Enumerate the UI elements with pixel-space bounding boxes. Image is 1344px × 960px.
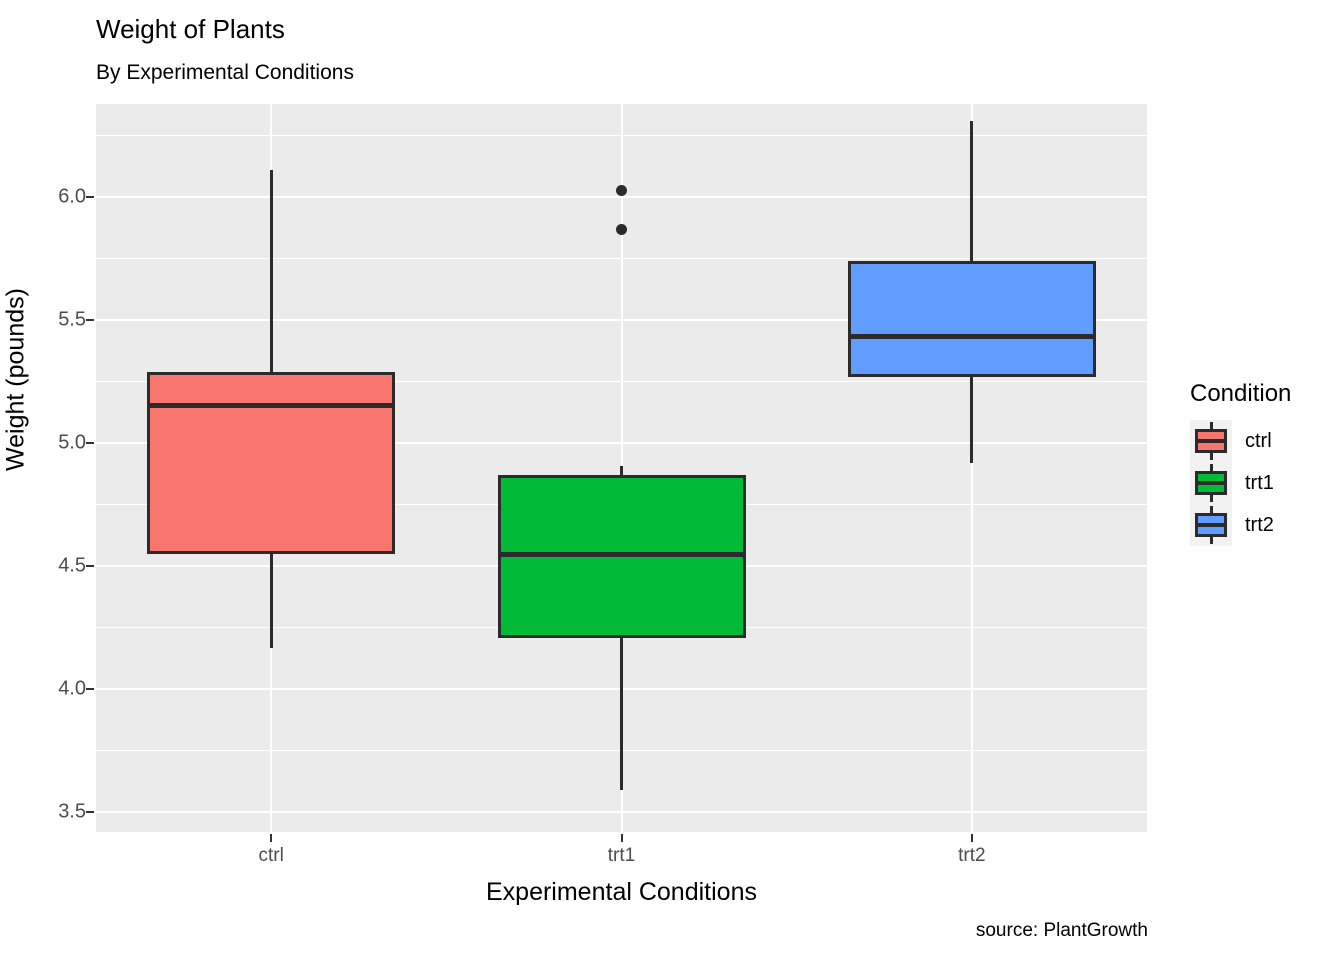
y-tick-label: 5.5 bbox=[58, 309, 86, 332]
x-tick-label-trt1: trt1 bbox=[608, 845, 635, 867]
legend-key-median bbox=[1195, 439, 1227, 443]
x-tick-label-ctrl: ctrl bbox=[258, 845, 283, 867]
legend-item-trt1[interactable]: trt1 bbox=[1190, 462, 1291, 504]
whisker-upper bbox=[620, 466, 623, 476]
y-tick-mark bbox=[86, 688, 94, 690]
outlier-point bbox=[616, 224, 627, 235]
x-axis-title: Experimental Conditions bbox=[96, 878, 1147, 907]
boxplot-ctrl[interactable] bbox=[147, 104, 395, 832]
y-tick-label: 4.0 bbox=[58, 678, 86, 701]
legend-item-trt2[interactable]: trt2 bbox=[1190, 504, 1291, 546]
plot-caption: source: PlantGrowth bbox=[976, 920, 1148, 942]
y-tick-mark bbox=[86, 319, 94, 321]
y-tick-mark bbox=[86, 565, 94, 567]
y-tick-mark bbox=[86, 442, 94, 444]
whisker-upper bbox=[270, 170, 273, 372]
median-line bbox=[848, 334, 1096, 339]
legend: Condition ctrltrt1trt2 bbox=[1190, 380, 1291, 546]
y-tick-mark bbox=[86, 811, 94, 813]
x-tick-mark bbox=[971, 834, 973, 842]
legend-key-median bbox=[1195, 481, 1227, 485]
boxplot-trt2[interactable] bbox=[848, 104, 1096, 832]
legend-label: ctrl bbox=[1245, 430, 1272, 453]
median-line bbox=[498, 552, 746, 557]
whisker-lower bbox=[620, 638, 623, 790]
x-tick-mark bbox=[270, 834, 272, 842]
legend-label: trt2 bbox=[1245, 514, 1274, 537]
y-tick-label: 4.5 bbox=[58, 555, 86, 578]
boxplot-trt1[interactable] bbox=[498, 104, 746, 832]
legend-key-median bbox=[1195, 523, 1227, 527]
box-iqr bbox=[147, 372, 395, 554]
x-tick-mark bbox=[621, 834, 623, 842]
outlier-point bbox=[616, 185, 627, 196]
legend-key-glyph bbox=[1190, 420, 1232, 462]
whisker-lower bbox=[970, 377, 973, 463]
legend-label: trt1 bbox=[1245, 472, 1274, 495]
page-title: Weight of Plants bbox=[96, 14, 285, 45]
legend-items: ctrltrt1trt2 bbox=[1190, 420, 1291, 546]
median-line bbox=[147, 403, 395, 408]
y-axis-title: Weight (pounds) bbox=[2, 280, 31, 480]
legend-item-ctrl[interactable]: ctrl bbox=[1190, 420, 1291, 462]
x-tick-label-trt2: trt2 bbox=[958, 845, 985, 867]
y-tick-label: 5.0 bbox=[58, 432, 86, 455]
y-tick-label: 3.5 bbox=[58, 801, 86, 824]
whisker-upper bbox=[970, 121, 973, 261]
legend-key-glyph bbox=[1190, 462, 1232, 504]
legend-key-glyph bbox=[1190, 504, 1232, 546]
legend-title: Condition bbox=[1190, 380, 1291, 408]
box-iqr bbox=[848, 261, 1096, 377]
whisker-lower bbox=[270, 554, 273, 647]
y-tick-mark bbox=[86, 196, 94, 198]
plot-subtitle: By Experimental Conditions bbox=[96, 61, 354, 85]
y-tick-label: 6.0 bbox=[58, 186, 86, 209]
plot-panel bbox=[96, 104, 1147, 832]
